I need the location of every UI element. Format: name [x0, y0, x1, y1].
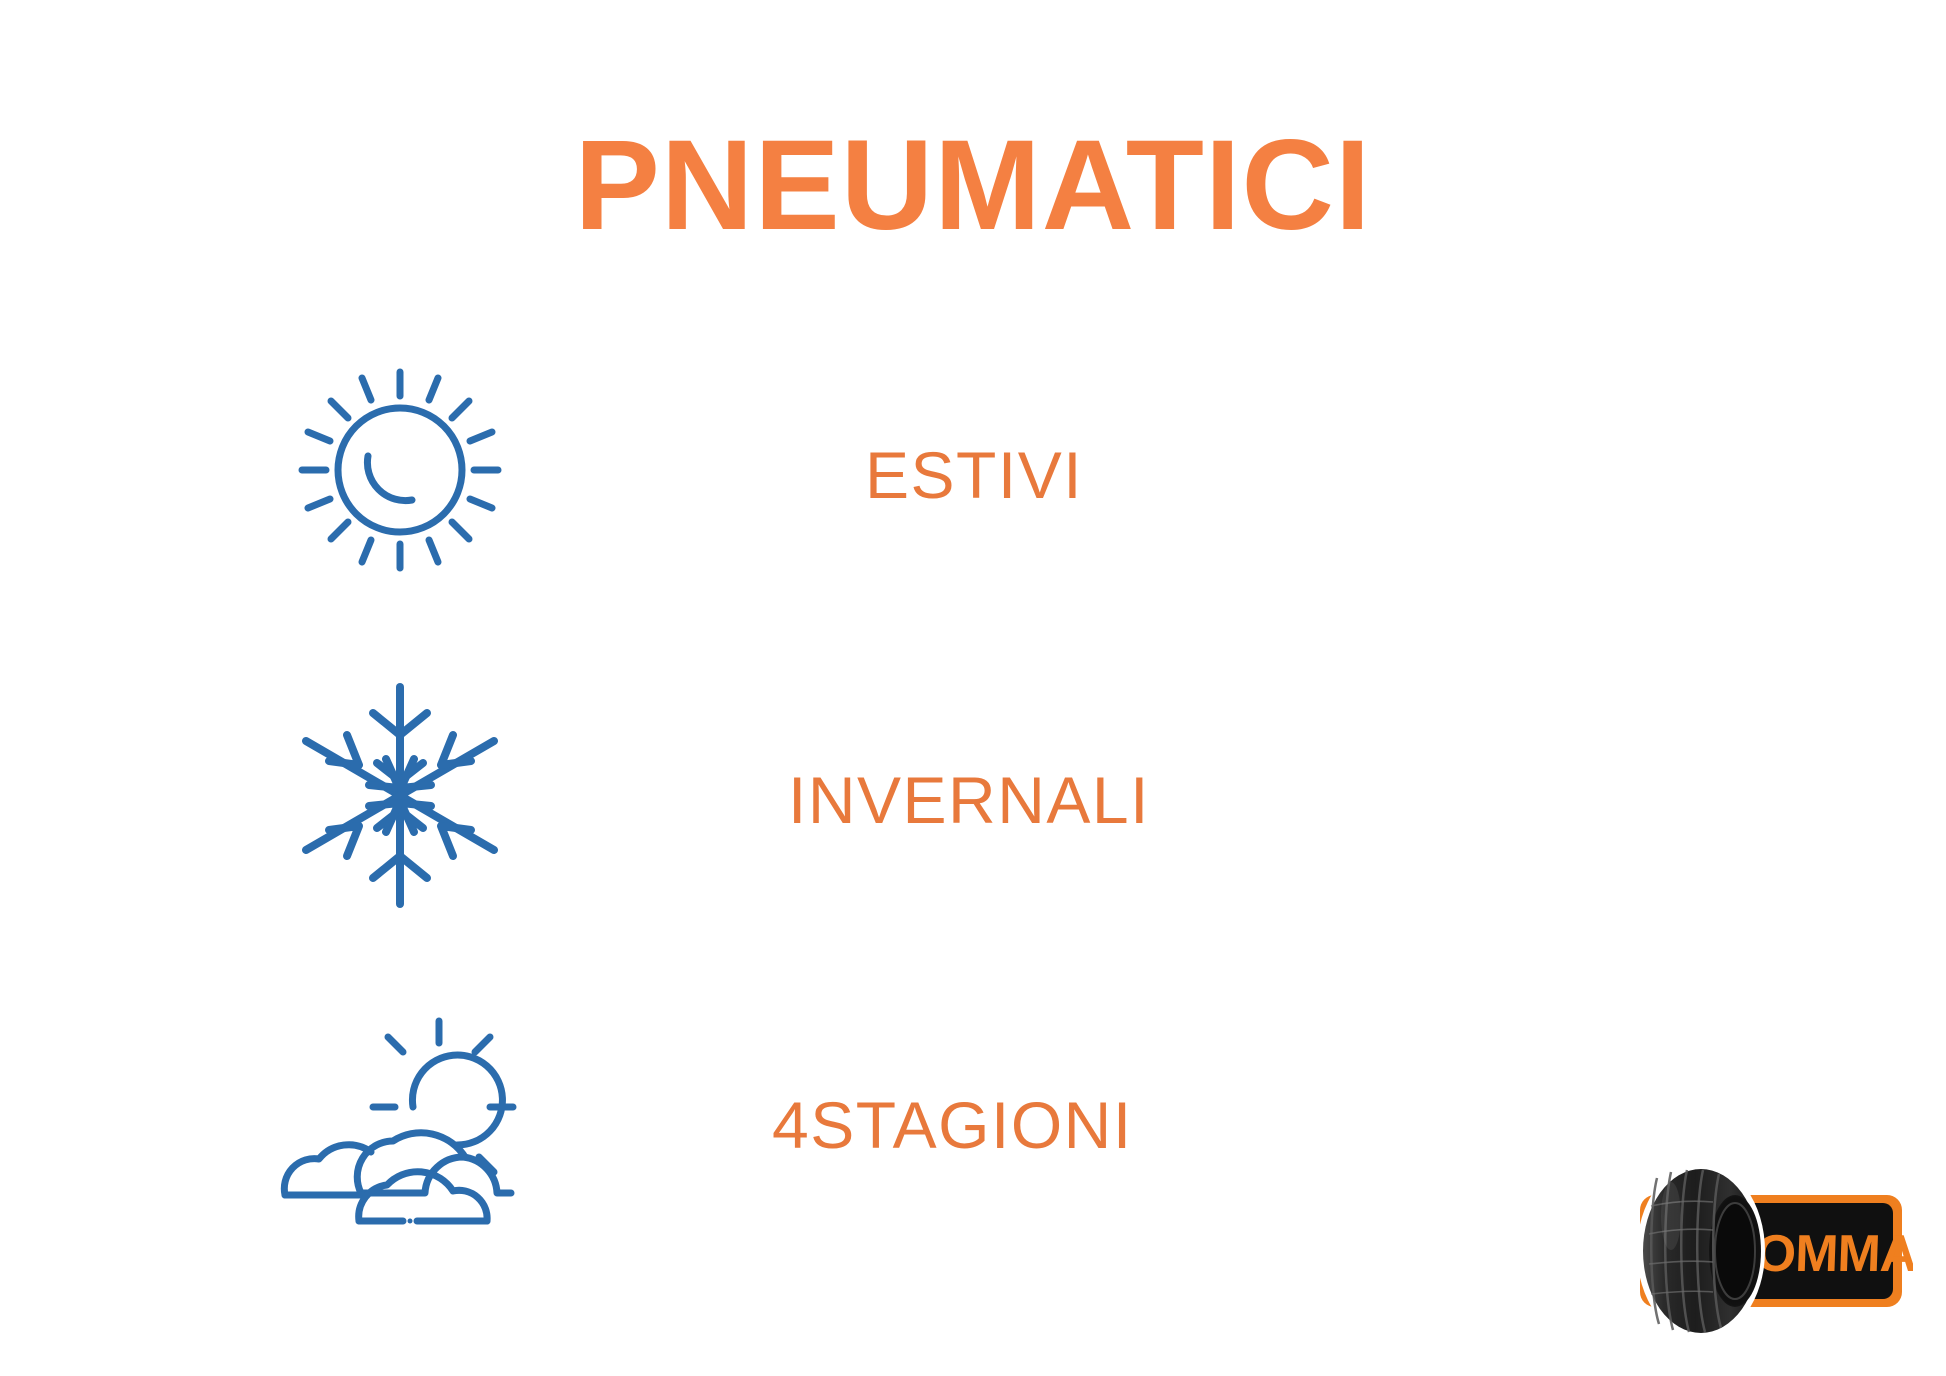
category-label-estivi: ESTIVI [865, 442, 1083, 508]
category-label-4stagioni: 4STAGIONI [772, 1092, 1133, 1158]
sun-behind-clouds-icon [250, 970, 550, 1270]
category-row-estivi: ESTIVI [0, 320, 1946, 620]
category-row-invernali: INVERNALI [0, 645, 1946, 945]
page-title: PNEUMATICI [0, 122, 1946, 250]
sun-icon [250, 320, 550, 620]
category-label-invernali: INVERNALI [788, 767, 1150, 833]
tire-icon [1637, 1163, 1765, 1339]
snowflake-icon [250, 645, 550, 945]
regomma-logo[interactable]: REGOMMA [1613, 1146, 1913, 1346]
